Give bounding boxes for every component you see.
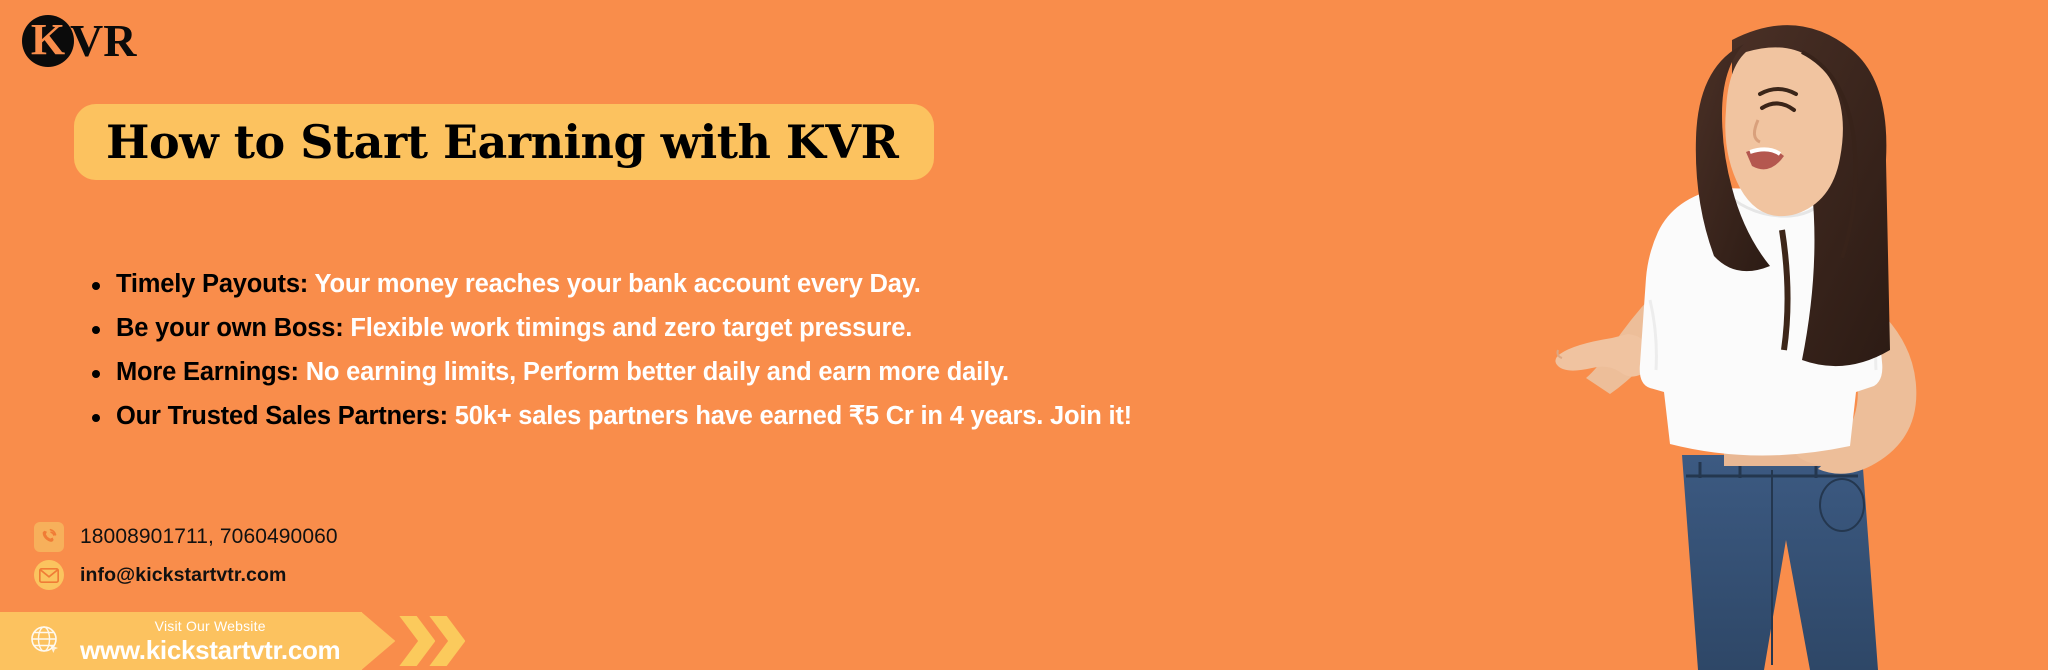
benefits-list: Timely Payouts: Your money reaches your … xyxy=(86,268,1186,444)
website-bar-body[interactable]: Visit Our Website www.kickstartvtr.com xyxy=(0,612,362,670)
list-item: Timely Payouts: Your money reaches your … xyxy=(86,268,1186,302)
contact-phone-row[interactable]: 18008901711, 7060490060 xyxy=(34,522,338,552)
logo-k-mark: K xyxy=(22,15,74,67)
envelope-icon xyxy=(34,560,64,590)
page-title: How to Start Earning with KVR xyxy=(106,119,898,165)
list-item: Be your own Boss: Flexible work timings … xyxy=(86,312,1186,346)
woman-pointing-left-photo xyxy=(1554,0,2024,670)
globe-pin-icon xyxy=(28,623,64,659)
list-item-lead: Our Trusted Sales Partners: xyxy=(116,402,448,430)
contact-email-row[interactable]: info@kickstartvtr.com xyxy=(34,560,286,590)
list-item: More Earnings: No earning limits, Perfor… xyxy=(86,356,1186,390)
list-item: Our Trusted Sales Partners: 50k+ sales p… xyxy=(86,400,1186,434)
bar-tail-shape xyxy=(361,612,395,670)
list-item-rest: Flexible work timings and zero target pr… xyxy=(344,314,913,342)
kvr-logo[interactable]: K VR xyxy=(22,14,136,68)
chevron-right-icon xyxy=(399,616,435,666)
website-url[interactable]: www.kickstartvtr.com xyxy=(80,637,340,663)
phone-ring-icon xyxy=(34,522,64,552)
email-address: info@kickstartvtr.com xyxy=(80,564,286,587)
list-item-lead: Timely Payouts: xyxy=(116,270,308,298)
list-item-rest: Your money reaches your bank account eve… xyxy=(308,270,921,298)
logo-wordmark: VR xyxy=(70,18,136,64)
title-pill: How to Start Earning with KVR xyxy=(74,104,934,180)
list-item-rest: No earning limits, Perform better daily … xyxy=(299,358,1009,386)
phone-numbers: 18008901711, 7060490060 xyxy=(80,525,338,549)
list-item-rest: 50k+ sales partners have earned ₹5 Cr in… xyxy=(448,402,1132,430)
list-item-lead: Be your own Boss: xyxy=(116,314,344,342)
logo-k-letter: K xyxy=(31,18,65,62)
list-item-lead: More Earnings: xyxy=(116,358,299,386)
website-caption: Visit Our Website xyxy=(155,619,266,633)
promo-banner: K VR How to Start Earning with KVR Timel… xyxy=(0,0,2048,670)
website-bar[interactable]: Visit Our Website www.kickstartvtr.com xyxy=(0,612,465,670)
